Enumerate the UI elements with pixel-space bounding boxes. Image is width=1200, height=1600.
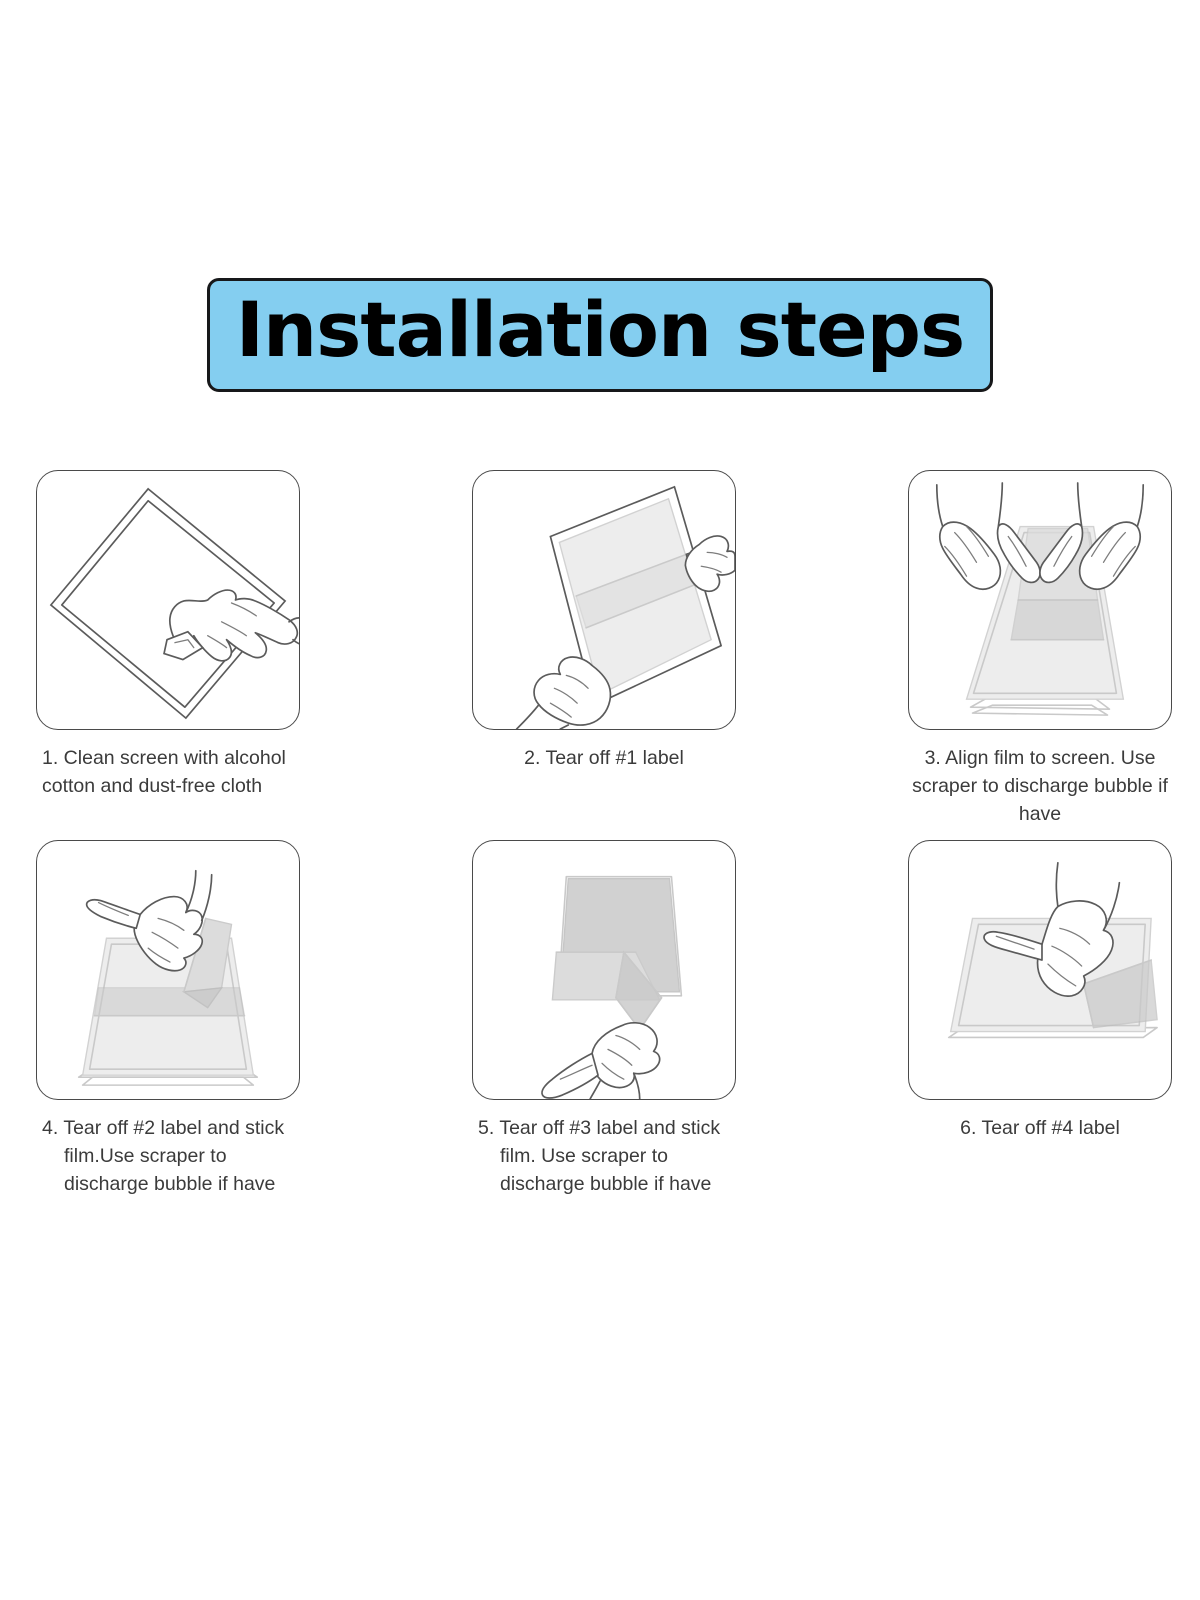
step-1-caption: 1. Clean screen with alcohol cotton and … (36, 744, 300, 800)
page-title: Installation steps (236, 285, 965, 375)
hand-pulling-triangular-flap-down-from-screen-icon (473, 841, 735, 1099)
hand-peeling-film-corner-flap-from-screen-icon (37, 841, 299, 1099)
tilted-tablet-held-by-hand-peeling-tab-label-icon (473, 471, 735, 729)
step-6-caption: 6. Tear off #4 label (908, 1114, 1172, 1142)
page-header: Installation steps (0, 278, 1200, 392)
step-3-caption: 3. Align film to screen. Use scraper to … (908, 744, 1172, 828)
step-4-illustration-panel (36, 840, 300, 1100)
step-4: 4. Tear off #2 label and stick film.Use … (36, 840, 300, 1198)
step-3-illustration-panel (908, 470, 1172, 730)
step-6-illustration-panel (908, 840, 1172, 1100)
step-6: 6. Tear off #4 label (908, 840, 1172, 1198)
installation-steps-grid: 1. Clean screen with alcohol cotton and … (36, 470, 1172, 1198)
step-1: 1. Clean screen with alcohol cotton and … (36, 470, 300, 828)
step-3: 3. Align film to screen. Use scraper to … (908, 470, 1172, 828)
step-2: 2. Tear off #1 label (472, 470, 736, 828)
tablet-rotated-with-hand-and-cleaning-cloth-icon (37, 471, 299, 729)
step-5: 5. Tear off #3 label and stick film. Use… (472, 840, 736, 1198)
hand-peeling-final-layer-from-screen-corner-icon (909, 841, 1171, 1099)
step-2-illustration-panel (472, 470, 736, 730)
title-banner: Installation steps (207, 278, 994, 392)
step-5-caption: 5. Tear off #3 label and stick film. Use… (472, 1114, 736, 1198)
step-5-illustration-panel (472, 840, 736, 1100)
step-4-caption: 4. Tear off #2 label and stick film.Use … (36, 1114, 300, 1198)
step-2-caption: 2. Tear off #1 label (472, 744, 736, 772)
two-hands-aligning-film-on-screen-icon (909, 471, 1171, 729)
step-1-illustration-panel (36, 470, 300, 730)
